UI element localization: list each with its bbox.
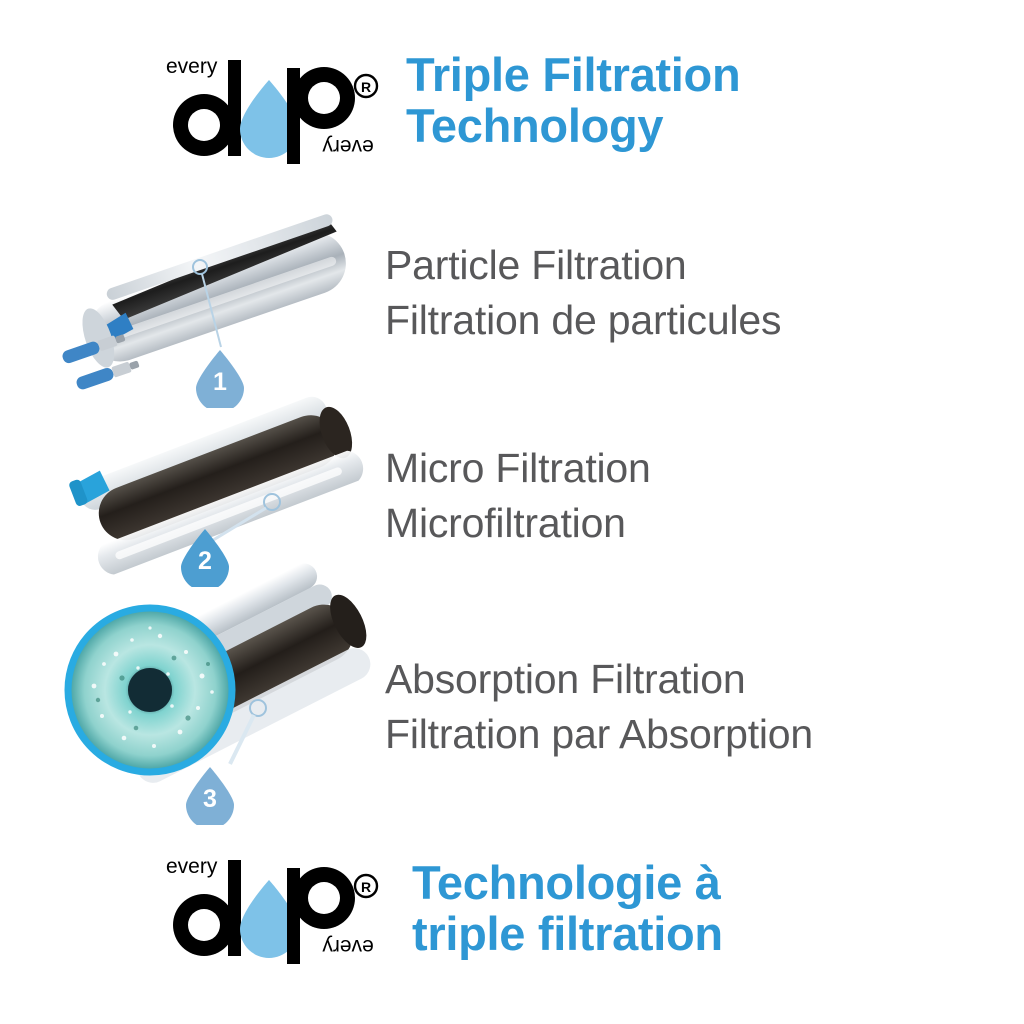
step-badge-3: 3: [183, 765, 237, 825]
step-label-1-en: Particle Filtration: [385, 238, 781, 293]
step-label-2-en: Micro Filtration: [385, 441, 651, 496]
logo-word-every-bottom-2: every: [322, 935, 374, 958]
step-label-2-fr: Microfiltration: [385, 496, 651, 551]
svg-text:R: R: [361, 879, 371, 895]
page-title-line2: Technology: [406, 101, 740, 152]
footer-title-line1: Technologie à: [412, 858, 723, 909]
page-title-line1: Triple Filtration: [406, 50, 740, 101]
magnified-carbon-inset: [68, 608, 232, 772]
step-label-3-en: Absorption Filtration: [385, 652, 813, 707]
step-badge-2: 2: [178, 527, 232, 587]
footer-title: Technologie à triple filtration: [412, 858, 723, 960]
step-label-3: Absorption Filtration Filtration par Abs…: [385, 652, 813, 761]
everydrop-logo-top: every R every: [152, 46, 384, 178]
logo-word-every-top: every: [166, 55, 218, 78]
logo-word-every-top-2: every: [166, 855, 218, 878]
step-label-1: Particle Filtration Filtration de partic…: [385, 238, 781, 347]
svg-text:R: R: [361, 79, 371, 95]
registered-trademark-icon-top: R: [355, 75, 377, 97]
step-label-3-fr: Filtration par Absorption: [385, 707, 813, 762]
step-label-1-fr: Filtration de particules: [385, 293, 781, 348]
infographic-page: every R every Triple Filtration Technolo…: [0, 0, 1024, 1024]
registered-trademark-icon-bottom: R: [355, 875, 377, 897]
everydrop-logo-bottom: every R every: [152, 846, 384, 978]
page-title: Triple Filtration Technology: [406, 50, 740, 152]
footer-title-line2: triple filtration: [412, 909, 723, 960]
logo-word-every-bottom: every: [322, 135, 374, 158]
step-label-2: Micro Filtration Microfiltration: [385, 441, 651, 550]
